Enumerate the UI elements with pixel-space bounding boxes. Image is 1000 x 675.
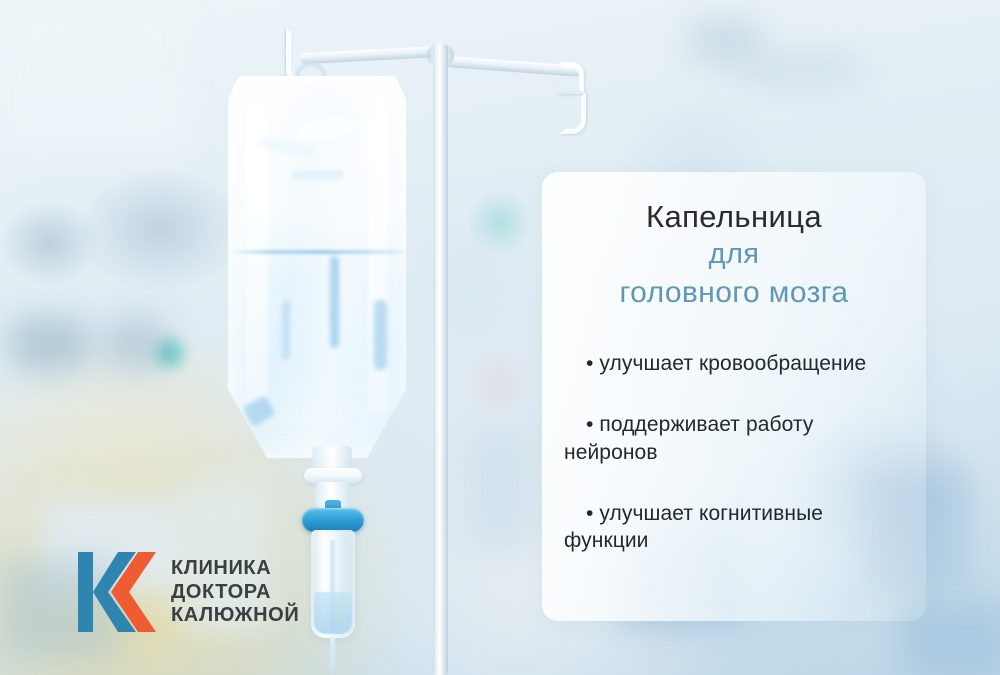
iv-bag-blue-marking [330, 256, 339, 348]
iv-outlet-tube [330, 636, 335, 675]
benefit-item: • улучшает кровообращение [564, 350, 904, 377]
iv-bag-blue-marking [282, 300, 290, 360]
promo-title-main: Капельница [564, 198, 904, 236]
advertisement-banner: Капельница для головного мозга • улучшае… [0, 0, 1000, 675]
iv-stand-right-elbow [558, 62, 584, 94]
benefit-item: • улучшает когнитивные функции [564, 500, 904, 555]
clinic-logo-line-1: КЛИНИКА [171, 557, 299, 580]
kk-monogram-icon [78, 548, 156, 636]
promo-title-accent-line-1: для [564, 236, 904, 273]
promo-text-card: Капельница для головного мозга • улучшае… [542, 172, 926, 621]
clinic-logo: КЛИНИКА ДОКТОРА КАЛЮЖНОЙ [78, 548, 299, 636]
iv-bag-fluid-level [232, 250, 402, 254]
clinic-logo-line-3: КАЛЮЖНОЙ [171, 604, 299, 627]
iv-stand-right-hook [560, 92, 586, 134]
iv-stand-left-arm [300, 46, 440, 64]
promo-title-block: Капельница для головного мозга [564, 198, 904, 312]
clinic-logo-line-2: ДОКТОРА [171, 581, 299, 604]
iv-roller-clamp [302, 508, 364, 532]
iv-bag-highlight [246, 104, 268, 404]
iv-bag-label [292, 170, 344, 180]
iv-stand-pole [433, 44, 448, 675]
benefits-list: • улучшает кровообращение • поддерживает… [564, 350, 904, 554]
benefit-item: • поддерживает работу нейронов [564, 411, 904, 466]
iv-bag-blue-marking [374, 300, 387, 370]
clinic-logo-text: КЛИНИКА ДОКТОРА КАЛЮЖНОЙ [171, 557, 299, 627]
iv-chamber-fluid [314, 592, 352, 634]
promo-title-accent-line-2: головного мозга [564, 274, 904, 312]
